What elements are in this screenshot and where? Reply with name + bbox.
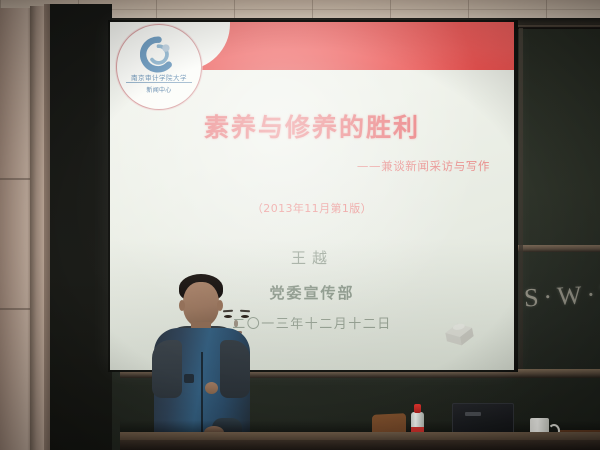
- eye-right: [241, 315, 249, 318]
- nose: [234, 320, 238, 327]
- doorway-dark: [50, 4, 112, 450]
- hand-left: [205, 382, 218, 394]
- classroom-scene: S·W·T 南京审计学院大学 新闻中心 素养与修养的胜利 ——兼谈新闻采访与写作…: [0, 0, 600, 450]
- left-wall: [0, 8, 34, 450]
- seal-c-mark-icon: [140, 36, 177, 73]
- bottle-cap: [414, 404, 421, 413]
- eyebrow-right: [240, 310, 250, 313]
- eye-left: [224, 315, 232, 318]
- slide-presenter-name: 王越: [110, 247, 514, 268]
- jacket-chest-logo-icon: [184, 374, 194, 383]
- ear-right: [217, 300, 223, 311]
- laptop-brand-logo-icon: [465, 412, 481, 416]
- slide-edition: （2013年11月第1版）: [110, 200, 514, 216]
- slide-title: 素养与修养的胜利: [110, 108, 514, 144]
- slide-subtitle: ——兼谈新闻采访与写作: [110, 158, 490, 174]
- ear-left: [179, 300, 185, 311]
- desk-front-panel: [120, 440, 600, 450]
- book-stack-icon: [440, 315, 479, 349]
- head: [183, 282, 219, 327]
- chalk-writing: S·W·T: [523, 278, 600, 313]
- blackboard-divider: [519, 28, 523, 370]
- eyebrow-left: [223, 310, 233, 313]
- jacket-shoulder-right: [220, 340, 250, 398]
- jacket-shoulder-left: [152, 340, 182, 398]
